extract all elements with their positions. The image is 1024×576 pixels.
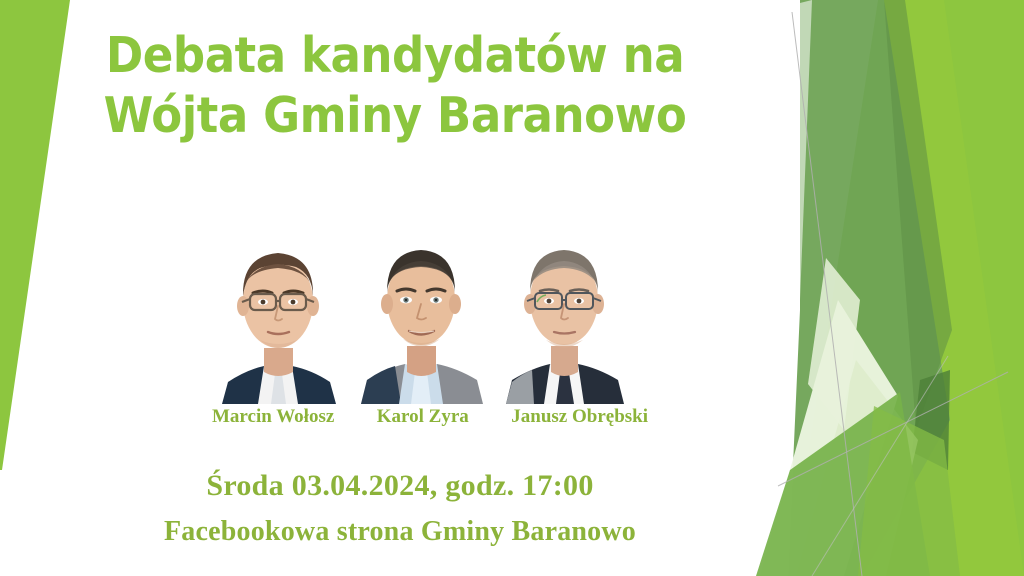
title-line-2: Wójta Gminy Baranowo — [32, 86, 759, 146]
page-title: Debata kandydatów na Wójta Gminy Baranow… — [0, 26, 790, 146]
facet-pale-lower-2 — [796, 360, 918, 576]
hairline-2 — [778, 372, 1008, 486]
facet-mid-lower-2 — [858, 406, 960, 576]
event-details: Środa 03.04.2024, godz. 17:00 Facebookow… — [0, 466, 800, 552]
candidate-name-3: Janusz Obrębski — [511, 406, 648, 428]
facet-pale-upper — [808, 258, 860, 430]
facet-darker-sliver — [884, 0, 952, 430]
presentation-slide: Debata kandydatów na Wójta Gminy Baranow… — [0, 0, 1024, 576]
candidate-photo-1 — [212, 222, 345, 404]
facet-deep-wedge — [912, 370, 950, 470]
hairline-1 — [792, 12, 862, 576]
hairline-3 — [812, 356, 948, 576]
candidate-name-1: Marcin Wołosz — [212, 406, 334, 428]
facet-white-notch — [788, 0, 812, 330]
facet-bright-mid — [790, 0, 1024, 576]
title-line-1: Debata kandydatów na — [32, 26, 759, 86]
candidate-name-row: Marcin Wołosz Karol Zyra Janusz Obrębski — [206, 406, 646, 428]
candidate-name-2: Karol Zyra — [377, 406, 469, 428]
event-datetime: Środa 03.04.2024, godz. 17:00 — [0, 466, 800, 506]
candidate-photo-row — [206, 222, 636, 404]
facet-bright-right — [862, 0, 1024, 576]
candidate-photo-3 — [498, 222, 631, 404]
candidate-photo-2 — [355, 222, 488, 404]
event-location: Facebookowa strona Gminy Baranowo — [0, 512, 800, 552]
facet-dark-large — [788, 0, 950, 576]
